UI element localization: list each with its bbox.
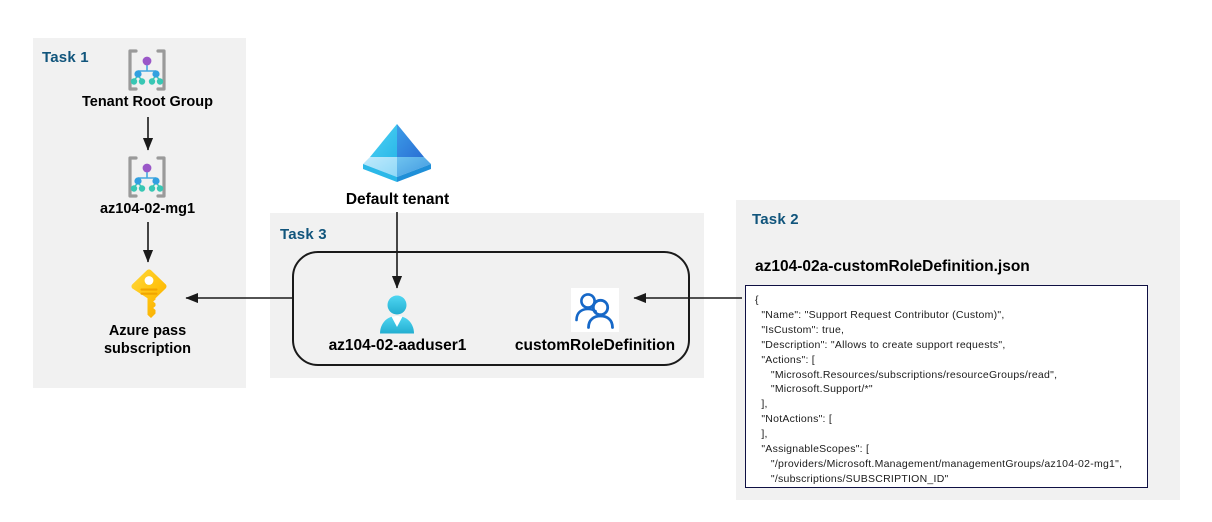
tenant-root-group-label: Tenant Root Group <box>40 93 255 111</box>
management-group-icon <box>123 155 171 199</box>
json-file-title: az104-02a-customRoleDefinition.json <box>755 258 1030 276</box>
az104-02-aaduser1-label: az104-02-aaduser1 <box>305 336 490 355</box>
azure-pass-subscription-label-line1: Azure pass <box>109 323 186 339</box>
azure-pass-subscription-label: Azure pass subscription <box>60 322 235 358</box>
task2-label: Task 2 <box>752 211 799 228</box>
user-icon <box>375 294 419 338</box>
task1-label: Task 1 <box>42 49 89 66</box>
role-users-icon <box>571 288 619 332</box>
default-tenant-label: Default tenant <box>310 190 485 209</box>
key-icon <box>126 268 174 322</box>
azure-pass-subscription-label-line2: subscription <box>104 341 191 357</box>
azure-ad-tenant-icon <box>358 120 436 186</box>
management-group-icon <box>123 48 171 92</box>
az104-02-mg1-label: az104-02-mg1 <box>45 200 250 218</box>
task3-label: Task 3 <box>280 226 327 243</box>
json-code-box: { "Name": "Support Request Contributor (… <box>745 285 1148 488</box>
json-code-text: { "Name": "Support Request Contributor (… <box>746 286 1147 488</box>
diagram-canvas: Task 1 Tenant Root Group <box>0 0 1212 522</box>
customroledefinition-label: customRoleDefinition <box>500 336 690 355</box>
